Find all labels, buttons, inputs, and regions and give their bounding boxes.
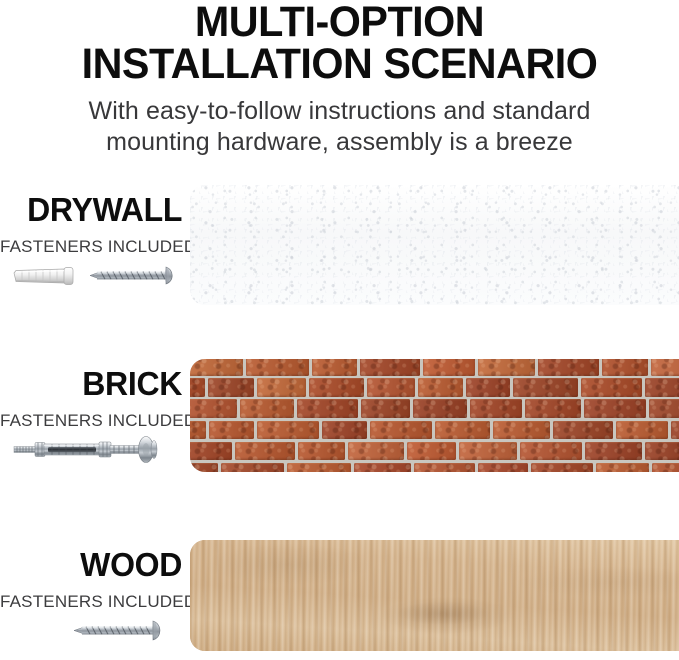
drywall-screw-icon — [90, 267, 172, 284]
brick-unit — [322, 421, 367, 440]
brick-unit — [190, 378, 205, 397]
brick-course — [190, 399, 679, 420]
brick-unit — [235, 442, 295, 461]
material-label-brick: BRICK — [6, 357, 186, 400]
brick-texture — [190, 359, 679, 472]
brick-unit — [414, 463, 475, 472]
brick-unit — [190, 421, 206, 440]
wood-surface-panel — [190, 540, 679, 651]
material-label-drywall: DRYWALL — [6, 183, 186, 226]
brick-unit — [309, 378, 364, 397]
subtitle-line-1: With easy-to-follow instructions and sta… — [24, 96, 655, 127]
brick-unit — [190, 359, 243, 376]
brick-unit — [257, 378, 306, 397]
fasteners-note-brick: FASTENERS INCLUDED — [0, 400, 186, 429]
brick-unit — [246, 359, 309, 376]
material-row-wood: WOOD FASTENERS INCLUDED — [0, 538, 679, 660]
brick-unit — [423, 359, 475, 376]
material-row-brick: BRICK FASTENERS INCLUDED — [0, 357, 679, 479]
brick-unit — [221, 463, 284, 472]
wood-hardware-illustration — [2, 608, 184, 654]
brick-unit — [584, 399, 646, 418]
brick-unit — [585, 442, 642, 461]
brick-unit — [360, 359, 420, 376]
brick-unit — [520, 442, 582, 461]
brick-unit — [287, 463, 351, 472]
brick-unit — [553, 421, 613, 440]
brick-unit — [466, 378, 510, 397]
fasteners-note-wood: FASTENERS INCLUDED — [0, 581, 186, 610]
wood-hardware-group — [2, 608, 184, 654]
brick-unit — [538, 359, 599, 376]
brick-unit — [645, 378, 679, 397]
brick-unit — [370, 421, 432, 440]
fasteners-note-drywall: FASTENERS INCLUDED — [0, 226, 186, 255]
brick-hardware-illustration — [2, 427, 184, 473]
page-subtitle: With easy-to-follow instructions and sta… — [0, 96, 679, 157]
page-title: MULTI-OPTION INSTALLATION SCENARIO — [14, 2, 666, 85]
molly-bolt-anchor-icon — [14, 437, 157, 463]
drywall-texture — [190, 185, 679, 305]
brick-unit — [407, 442, 456, 461]
brick-unit — [209, 421, 254, 440]
wood-screw-icon — [74, 621, 160, 640]
material-label-wood: WOOD — [6, 538, 186, 581]
wall-plug-anchor-icon — [14, 268, 73, 285]
brick-unit — [240, 399, 294, 418]
brick-unit — [531, 463, 593, 472]
wood-info-block: WOOD FASTENERS INCLUDED — [0, 538, 186, 660]
header-block: MULTI-OPTION INSTALLATION SCENARIO With … — [0, 0, 679, 157]
brick-unit — [671, 421, 679, 440]
drywall-hardware-illustration — [2, 253, 184, 299]
brick-unit — [257, 421, 319, 440]
wood-texture — [190, 540, 679, 651]
brick-unit — [435, 421, 490, 440]
material-row-drywall: DRYWALL FASTENERS INCLUDED — [0, 183, 679, 305]
brick-unit — [470, 399, 522, 418]
brick-unit — [525, 399, 581, 418]
brick-unit — [616, 421, 668, 440]
brick-unit — [459, 442, 517, 461]
brick-unit — [651, 359, 679, 376]
drywall-hardware-group — [2, 253, 184, 299]
brick-unit — [478, 359, 535, 376]
brick-unit — [413, 399, 467, 418]
brick-unit — [190, 399, 237, 418]
brick-unit — [478, 463, 528, 472]
brick-hardware-group — [2, 427, 184, 473]
brick-surface-panel — [190, 359, 679, 472]
title-line-2: INSTALLATION SCENARIO — [19, 44, 659, 86]
brick-unit — [361, 399, 410, 418]
brick-unit — [367, 378, 415, 397]
brick-unit — [649, 399, 679, 418]
brick-unit — [418, 378, 463, 397]
brick-course — [190, 378, 679, 399]
brick-unit — [581, 378, 642, 397]
brick-unit — [645, 442, 679, 461]
brick-course — [190, 421, 679, 442]
brick-info-block: BRICK FASTENERS INCLUDED — [0, 357, 186, 479]
brick-unit — [652, 463, 679, 472]
drywall-info-block: DRYWALL FASTENERS INCLUDED — [0, 183, 186, 305]
brick-course — [190, 442, 679, 463]
brick-unit — [298, 442, 345, 461]
brick-course — [190, 463, 679, 472]
title-line-1: MULTI-OPTION — [19, 2, 659, 44]
brick-unit — [348, 442, 404, 461]
brick-unit — [297, 399, 358, 418]
brick-unit — [493, 421, 550, 440]
brick-course — [190, 359, 679, 378]
brick-unit — [312, 359, 357, 376]
brick-unit — [208, 378, 254, 397]
subtitle-line-2: mounting hardware, assembly is a breeze — [24, 127, 655, 158]
drywall-surface-panel — [190, 185, 679, 305]
brick-unit — [190, 442, 232, 461]
brick-unit — [596, 463, 649, 472]
brick-unit — [354, 463, 411, 472]
brick-unit — [190, 463, 218, 472]
brick-unit — [513, 378, 578, 397]
brick-unit — [602, 359, 648, 376]
